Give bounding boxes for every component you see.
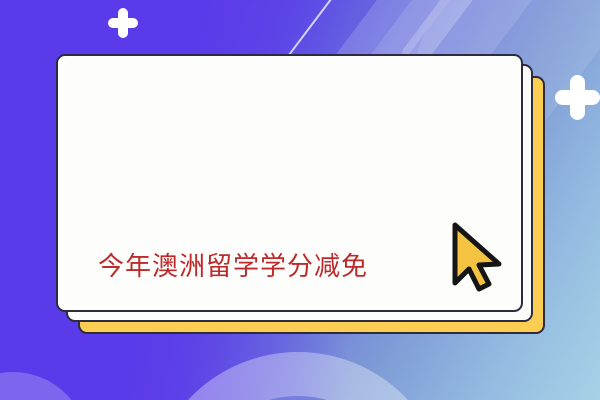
slide-canvas: 今年澳洲留学学分减免 条件介绍 [0, 0, 600, 400]
page-title: 今年澳洲留学学分减免 条件介绍 [98, 112, 498, 400]
headline-line-1: 今年澳洲留学学分减免 [98, 236, 498, 298]
